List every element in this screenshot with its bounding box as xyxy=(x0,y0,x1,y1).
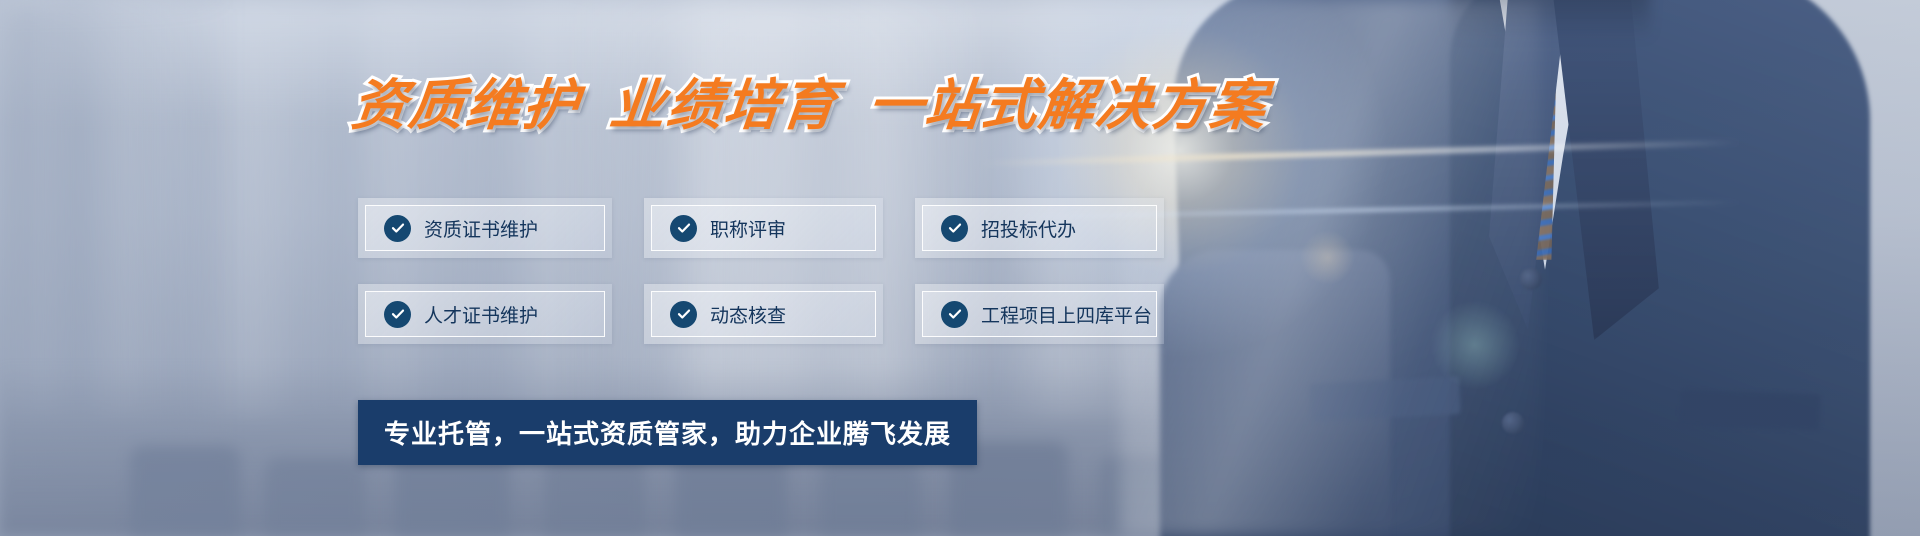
cta-bar[interactable]: 专业托管，一站式资质管家，助力企业腾飞发展 xyxy=(358,400,977,465)
feature-label: 招投标代办 xyxy=(981,215,1076,242)
headline-part-3: 一站式解决方案 xyxy=(865,73,1271,137)
feature-row-2: 人才证书维护 动态核查 xyxy=(358,284,1198,344)
feature-row-1: 资质证书维护 职称评审 xyxy=(358,198,1198,258)
feature-label: 资质证书维护 xyxy=(424,215,538,242)
banner-content: 资质维护业绩培育一站式解决方案 资质证书维护 xyxy=(0,0,1920,536)
feature-card-title-review[interactable]: 职称评审 xyxy=(644,198,883,258)
feature-grid: 资质证书维护 职称评审 xyxy=(358,198,1198,370)
check-circle-icon xyxy=(670,301,697,328)
headline-part-2: 业绩培育 xyxy=(607,73,842,137)
feature-card-bidding-agency[interactable]: 招投标代办 xyxy=(915,198,1164,258)
feature-card-dynamic-inspection[interactable]: 动态核查 xyxy=(644,284,883,344)
feature-label: 职称评审 xyxy=(710,215,786,242)
feature-card-qualification-certificate[interactable]: 资质证书维护 xyxy=(358,198,612,258)
banner-headline: 资质维护业绩培育一站式解决方案 xyxy=(349,78,1270,133)
check-circle-icon xyxy=(670,215,697,242)
feature-card-four-database-platform[interactable]: 工程项目上四库平台 xyxy=(915,284,1164,344)
headline-part-1: 资质维护 xyxy=(349,73,584,137)
check-circle-icon xyxy=(941,301,968,328)
feature-label: 工程项目上四库平台 xyxy=(981,301,1152,328)
check-circle-icon xyxy=(941,215,968,242)
feature-card-talent-certificate[interactable]: 人才证书维护 xyxy=(358,284,612,344)
check-circle-icon xyxy=(384,215,411,242)
check-circle-icon xyxy=(384,301,411,328)
cta-text: 专业托管，一站式资质管家，助力企业腾飞发展 xyxy=(384,420,951,450)
feature-label: 人才证书维护 xyxy=(424,301,538,328)
feature-label: 动态核查 xyxy=(710,301,786,328)
promo-banner: 资质维护业绩培育一站式解决方案 资质证书维护 xyxy=(0,0,1920,536)
